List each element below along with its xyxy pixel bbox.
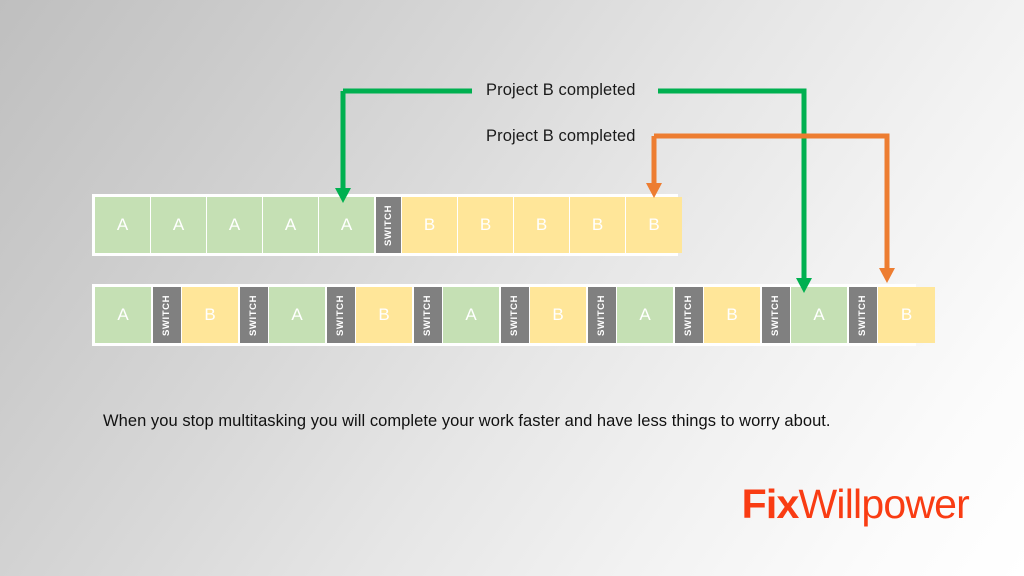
task-cell-b: B bbox=[626, 197, 682, 253]
task-cell-a: A bbox=[263, 197, 319, 253]
task-cell-label: A bbox=[229, 215, 240, 235]
switch-label: SWITCH bbox=[336, 294, 347, 335]
task-cell-b: B bbox=[570, 197, 626, 253]
task-cell-label: A bbox=[465, 305, 476, 325]
task-cell-a: A bbox=[95, 197, 151, 253]
task-cell-label: B bbox=[480, 215, 491, 235]
switch-cell: SWITCH bbox=[326, 287, 356, 343]
task-cell-label: A bbox=[173, 215, 184, 235]
task-cell-a: A bbox=[443, 287, 500, 343]
task-cell-label: B bbox=[592, 215, 603, 235]
task-cell-label: A bbox=[639, 305, 650, 325]
switch-cell: SWITCH bbox=[587, 287, 617, 343]
switch-cell: SWITCH bbox=[375, 197, 402, 253]
switch-cell: SWITCH bbox=[500, 287, 530, 343]
task-cell-a: A bbox=[207, 197, 263, 253]
switch-cell: SWITCH bbox=[152, 287, 182, 343]
switch-label: SWITCH bbox=[684, 294, 695, 335]
task-cell-b: B bbox=[878, 287, 935, 343]
task-cell-label: B bbox=[648, 215, 659, 235]
task-cell-a: A bbox=[95, 287, 152, 343]
task-cell-a: A bbox=[151, 197, 207, 253]
orange-annotation-label: Project B completed bbox=[486, 127, 636, 146]
switch-label: SWITCH bbox=[597, 294, 608, 335]
slide-caption: When you stop multitasking you will comp… bbox=[103, 412, 831, 431]
task-cell-b: B bbox=[458, 197, 514, 253]
switch-cell: SWITCH bbox=[848, 287, 878, 343]
orange-arrow-head-bottom bbox=[879, 268, 895, 283]
task-cell-label: A bbox=[291, 305, 302, 325]
task-cell-label: B bbox=[552, 305, 563, 325]
task-cell-a: A bbox=[319, 197, 375, 253]
switch-label: SWITCH bbox=[162, 294, 173, 335]
single-tasking-timeline: AAAAASWITCHBBBBB bbox=[92, 194, 678, 256]
green-arrow-group bbox=[335, 91, 812, 293]
task-cell-a: A bbox=[269, 287, 326, 343]
task-cell-label: A bbox=[117, 305, 128, 325]
task-cell-b: B bbox=[356, 287, 413, 343]
task-cell-label: B bbox=[536, 215, 547, 235]
slide-canvas: AAAAASWITCHBBBBB ASWITCHBSWITCHASWITCHBS… bbox=[0, 0, 1024, 576]
task-cell-b: B bbox=[182, 287, 239, 343]
task-cell-label: A bbox=[341, 215, 352, 235]
task-cell-a: A bbox=[617, 287, 674, 343]
switch-label: SWITCH bbox=[423, 294, 434, 335]
task-cell-label: B bbox=[726, 305, 737, 325]
task-cell-label: B bbox=[204, 305, 215, 325]
switch-label: SWITCH bbox=[858, 294, 869, 335]
task-cell-b: B bbox=[514, 197, 570, 253]
orange-arrow-right-path bbox=[654, 136, 887, 268]
fixwillpower-logo: FixWillpower bbox=[742, 484, 969, 525]
multitasking-timeline: ASWITCHBSWITCHASWITCHBSWITCHASWITCHBSWIT… bbox=[92, 284, 916, 346]
switch-label: SWITCH bbox=[383, 204, 394, 245]
logo-willpower-text: Willpower bbox=[799, 481, 970, 527]
switch-cell: SWITCH bbox=[761, 287, 791, 343]
task-cell-label: A bbox=[117, 215, 128, 235]
task-cell-label: A bbox=[813, 305, 824, 325]
task-cell-b: B bbox=[530, 287, 587, 343]
task-cell-label: B bbox=[424, 215, 435, 235]
task-cell-label: B bbox=[378, 305, 389, 325]
orange-arrow-group bbox=[646, 136, 895, 283]
task-cell-b: B bbox=[704, 287, 761, 343]
green-annotation-label: Project B completed bbox=[486, 81, 636, 100]
switch-cell: SWITCH bbox=[413, 287, 443, 343]
switch-label: SWITCH bbox=[771, 294, 782, 335]
task-cell-label: B bbox=[901, 305, 912, 325]
switch-cell: SWITCH bbox=[674, 287, 704, 343]
switch-cell: SWITCH bbox=[239, 287, 269, 343]
task-cell-a: A bbox=[791, 287, 848, 343]
task-cell-b: B bbox=[402, 197, 458, 253]
task-cell-label: A bbox=[285, 215, 296, 235]
switch-label: SWITCH bbox=[510, 294, 521, 335]
logo-fix-text: Fix bbox=[742, 481, 799, 527]
switch-label: SWITCH bbox=[249, 294, 260, 335]
